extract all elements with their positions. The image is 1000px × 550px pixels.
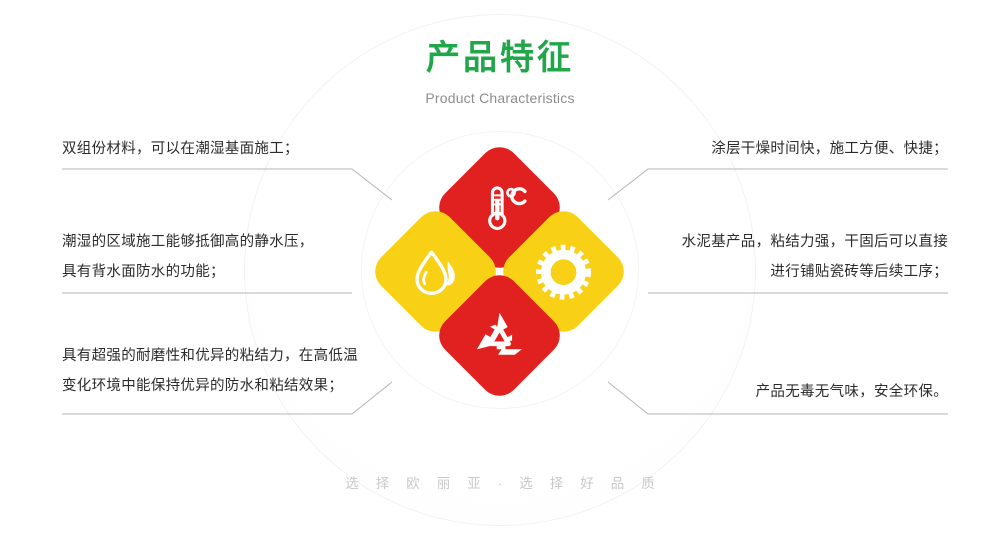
feature-left-3-line-2: 变化环境中能保持优异的防水和粘结效果； — [62, 371, 358, 401]
feature-right-2: 水泥基产品，粘结力强，干固后可以直接 进行铺贴瓷砖等后续工序； — [682, 227, 948, 287]
center-icon-cluster — [385, 157, 615, 387]
page-title-group: 产品特征 Product Characteristics — [0, 36, 1000, 107]
feature-left-2: 潮湿的区域施工能够抵御高的静水压， 具有背水面防水的功能； — [62, 227, 314, 287]
feature-left-2-line-1: 潮湿的区域施工能够抵御高的静水压， — [62, 227, 314, 257]
feature-right-2-line-1: 水泥基产品，粘结力强，干固后可以直接 — [682, 227, 948, 257]
page-subtitle: Product Characteristics — [0, 89, 1000, 107]
feature-right-2-line-2: 进行铺贴瓷砖等后续工序； — [682, 257, 948, 287]
thermometer-celsius-icon — [469, 177, 531, 239]
water-drop-icon — [407, 243, 465, 301]
recycle-icon — [471, 307, 529, 365]
feature-left-1-line-1: 双组份材料，可以在潮湿基面施工； — [62, 134, 299, 164]
feature-left-3-line-1: 具有超强的耐磨性和优异的粘结力，在高低温 — [62, 341, 358, 371]
feature-left-2-line-2: 具有背水面防水的功能； — [62, 257, 314, 287]
feature-right-1: 涂层干燥时间快，施工方便、快捷； — [711, 134, 948, 164]
feature-left-3: 具有超强的耐磨性和优异的粘结力，在高低温 变化环境中能保持优异的防水和粘结效果； — [62, 341, 358, 401]
feature-right-1-line-1: 涂层干燥时间快，施工方便、快捷； — [711, 134, 948, 164]
footer-slogan: 选择欧丽亚·选择好品质 — [0, 474, 1000, 494]
feature-left-1: 双组份材料，可以在潮湿基面施工； — [62, 134, 299, 164]
page-title: 产品特征 — [0, 36, 1000, 80]
product-characteristics-infographic: 产品特征 Product Characteristics 双组份材料，可以在潮湿… — [0, 0, 1000, 550]
feature-right-3-line-1: 产品无毒无气味，安全环保。 — [756, 377, 948, 407]
gear-icon — [536, 244, 592, 300]
feature-right-3: 产品无毒无气味，安全环保。 — [756, 377, 948, 407]
